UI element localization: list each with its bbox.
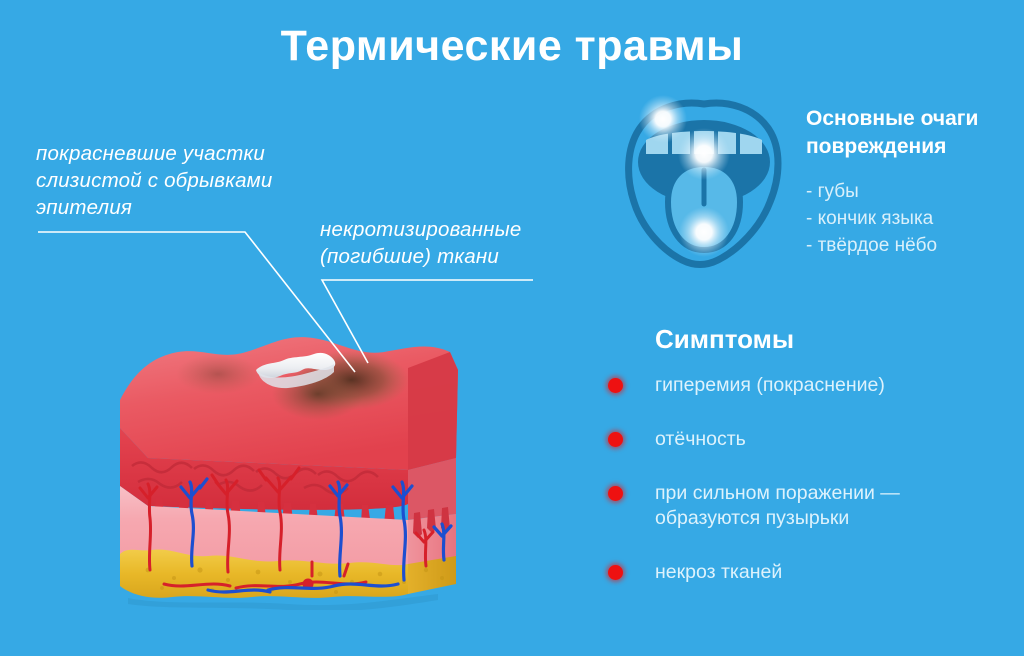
- symptom-label: некроз тканей: [655, 561, 782, 583]
- damage-list-item: - кончик языка: [806, 205, 1021, 232]
- symptom-label: отёчность: [655, 428, 746, 450]
- bullet-dot-icon: [608, 432, 623, 447]
- symptom-list-item: отёчность: [608, 427, 1008, 452]
- damage-sites-heading: Основные очаги повреждения: [806, 105, 1021, 161]
- infographic-canvas: Термические травмы: [0, 0, 1024, 656]
- symptoms-list: гиперемия (покраснение) отёчность при си…: [608, 373, 1008, 614]
- damage-sites-list: - губы - кончик языка - твёрдое нёбо: [806, 178, 1021, 259]
- glow-spot-lip: [639, 95, 687, 143]
- symptom-label: гиперемия (покраснение): [655, 374, 885, 396]
- symptom-label: при сильном поражении — образуются пузыр…: [655, 482, 900, 529]
- necrosis-patch-left: [176, 354, 260, 394]
- annotation-epithelium: покрасневшие участки слизистой с обрывка…: [36, 140, 336, 221]
- bullet-dot-icon: [608, 486, 623, 501]
- damage-list-item: - губы: [806, 178, 1021, 205]
- open-mouth-tongue-icon: [622, 92, 787, 277]
- glow-spot-palate: [678, 128, 730, 180]
- bullet-dot-icon: [608, 565, 623, 580]
- symptom-list-item: при сильном поражении — образуются пузыр…: [608, 481, 1008, 531]
- glow-spot-tongue-tip: [679, 207, 729, 257]
- symptom-list-item: некроз тканей: [608, 560, 1008, 585]
- symptom-list-item: гиперемия (покраснение): [608, 373, 1008, 398]
- mucosa-side-top: [408, 352, 458, 470]
- damage-list-item: - твёрдое нёбо: [806, 232, 1021, 259]
- page-title: Термические травмы: [0, 22, 1024, 71]
- bullet-dot-icon: [608, 378, 623, 393]
- symptoms-heading: Симптомы: [655, 324, 794, 355]
- annotation-necrosis: некротизированные (погибшие) ткани: [320, 216, 580, 270]
- mucosa-cross-section-diagram: [108, 308, 468, 610]
